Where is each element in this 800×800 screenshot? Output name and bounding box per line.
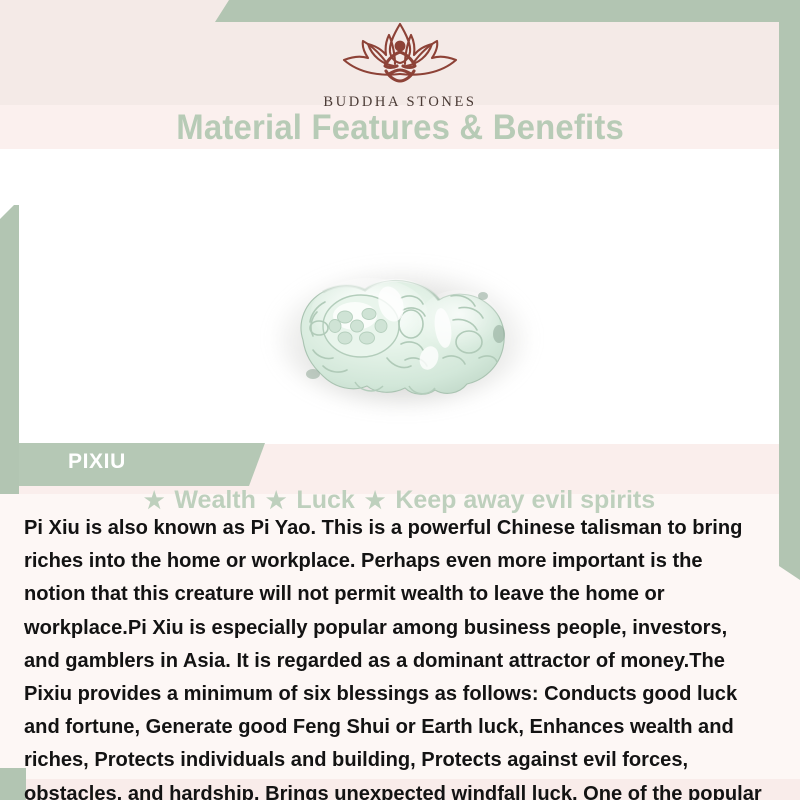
decoration-bar-left: [0, 205, 19, 450]
benefits-list: ★ Wealth ★ Luck ★ Keep away evil spirits: [0, 486, 800, 515]
star-icon: ★: [364, 487, 387, 513]
lotus-meditation-figure-icon: [320, 16, 480, 92]
description-paragraph: Pi Xiu is also known as Pi Yao. This is …: [24, 512, 767, 800]
product-label-text: PIXIU: [68, 450, 126, 474]
benefit-item-luck: Luck: [294, 486, 356, 514]
star-icon: ★: [265, 487, 288, 513]
product-label-banner: [19, 443, 265, 486]
decoration-bar-left-lower: [0, 768, 26, 800]
product-image: [225, 230, 575, 445]
page-title-text: Material Features & Benefits: [176, 108, 624, 148]
star-icon: ★: [143, 487, 166, 513]
page-title: Material Features & Benefits: [0, 108, 800, 148]
benefit-item-wealth: Wealth: [172, 486, 258, 514]
jade-pixiu-carving: [283, 262, 521, 402]
brand-logo: BUDDHA STONES: [0, 16, 800, 111]
product-infographic: BUDDHA STONES Material Features & Benefi…: [0, 0, 800, 800]
benefit-item-evil-spirits: Keep away evil spirits: [393, 486, 657, 514]
